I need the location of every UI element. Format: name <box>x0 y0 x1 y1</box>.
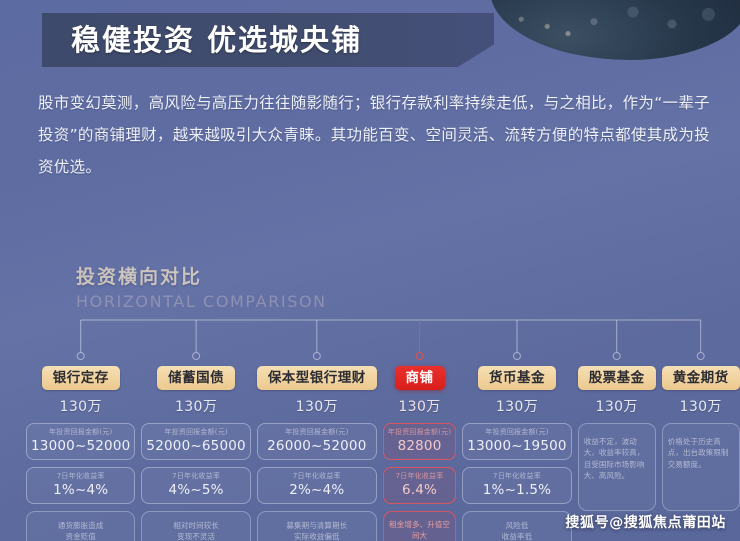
watermark: 搜狐号@搜狐焦点莆田站 <box>565 512 726 532</box>
column-label-2[interactable]: 储蓄国债 <box>157 366 235 390</box>
return-value: 13000~52000 <box>31 438 130 454</box>
rate-value: 2%~4% <box>262 482 372 498</box>
column-amount: 130万 <box>60 396 102 416</box>
return-caption: 年投资回报金额(元) <box>388 428 451 437</box>
return-box: 年投资回报金额(元)26000~52000 <box>257 423 377 460</box>
rate-box: 7日年化收益率2%~4% <box>257 467 377 504</box>
column-note: 租金增多、升值空间大抗风险、高抗通胀能力 <box>383 511 456 541</box>
rate-box: 7日年化收益率4%~5% <box>141 467 250 504</box>
page-title: 稳健投资 优选城央铺 <box>42 26 362 55</box>
column-amount: 130万 <box>296 396 338 416</box>
column-note: 收益不定，波动大，收益率较高，且受国际市场影响大、高风险。 <box>578 423 656 511</box>
comparison-column: 保本型银行理财130万年投资回报金额(元)26000~520007日年化收益率2… <box>257 366 377 541</box>
column-note-text: 相对时间较长变现不灵活 <box>173 520 219 541</box>
column-note: 相对时间较长变现不灵活 <box>141 511 250 541</box>
rate-value: 4%~5% <box>146 482 245 498</box>
rate-box: 7日年化收益率6.4% <box>383 467 456 504</box>
column-amount: 130万 <box>398 396 440 416</box>
comparison-column: 股票基金130万收益不定，波动大，收益率较高，且受国际市场影响大、高风险。 <box>578 366 656 511</box>
column-note-text: 收益不定，波动大，收益率较高，且受国际市场影响大、高风险。 <box>584 436 650 481</box>
column-label-7[interactable]: 黄金期货 <box>662 366 740 390</box>
column-label-6[interactable]: 股票基金 <box>578 366 656 390</box>
section-title-cn: 投资横向对比 <box>76 262 327 289</box>
column-label-5[interactable]: 货币基金 <box>478 366 556 390</box>
column-note-text: 风险低收益率低 <box>502 520 532 541</box>
rate-value: 1%~4% <box>31 482 130 498</box>
intro-paragraph: 股市变幻莫测，高风险与高压力往往随影随行；银行存款利率持续走低，与之相比，作为“… <box>38 88 710 183</box>
rate-box: 7日年化收益率1%~1.5% <box>462 467 571 504</box>
column-amount: 130万 <box>680 396 722 416</box>
column-label-1[interactable]: 银行定存 <box>42 366 120 390</box>
return-value: 13000~19500 <box>467 438 566 454</box>
column-note: 价格处于历史高点，出台政策限制交易额度。 <box>662 423 740 511</box>
comparison-column: 储蓄国债130万年投资回报金额(元)52000~650007日年化收益率4%~5… <box>141 366 250 541</box>
return-box: 年投资回报金额(元)52000~65000 <box>141 423 250 460</box>
column-label-4[interactable]: 商铺 <box>395 366 445 390</box>
return-box: 年投资回报金额(元)13000~52000 <box>26 423 135 460</box>
rate-value: 1%~1.5% <box>467 482 566 498</box>
column-amount: 130万 <box>175 396 217 416</box>
return-box: 年投资回报金额(元)82800 <box>383 423 456 460</box>
column-note-text: 募集期与清算期长实际收益偏低 <box>286 520 347 541</box>
column-note: 募集期与清算期长实际收益偏低 <box>257 511 377 541</box>
column-note-text: 价格处于历史高点，出台政策限制交易额度。 <box>668 436 734 470</box>
return-box: 年投资回报金额(元)13000~19500 <box>462 423 571 460</box>
return-value: 26000~52000 <box>262 438 372 454</box>
rate-caption: 7日年化收益率 <box>146 472 245 481</box>
column-note: 风险低收益率低 <box>462 511 571 541</box>
comparison-column: 货币基金130万年投资回报金额(元)13000~195007日年化收益率1%~1… <box>462 366 571 541</box>
rate-caption: 7日年化收益率 <box>388 472 451 481</box>
return-caption: 年投资回报金额(元) <box>262 428 372 437</box>
return-caption: 年投资回报金额(元) <box>31 428 130 437</box>
column-note-text: 租金增多、升值空间大抗风险、高抗通胀能力 <box>389 519 450 541</box>
return-value: 82800 <box>388 438 451 454</box>
return-caption: 年投资回报金额(元) <box>146 428 245 437</box>
column-amount: 130万 <box>596 396 638 416</box>
comparison-column: 银行定存130万年投资回报金额(元)13000~520007日年化收益率1%~4… <box>26 366 135 541</box>
column-label-3[interactable]: 保本型银行理财 <box>257 366 377 390</box>
column-note: 通货膨胀造成资金贬值 <box>26 511 135 541</box>
rate-caption: 7日年化收益率 <box>262 472 372 481</box>
rate-value: 6.4% <box>388 482 451 498</box>
comparison-column: 商铺130万年投资回报金额(元)828007日年化收益率6.4%租金增多、升值空… <box>383 366 456 541</box>
return-value: 52000~65000 <box>146 438 245 454</box>
headline-banner: 稳健投资 优选城央铺 <box>42 13 494 67</box>
rate-box: 7日年化收益率1%~4% <box>26 467 135 504</box>
connector-rails <box>0 300 740 370</box>
column-note-text: 通货膨胀造成资金贬值 <box>58 520 104 541</box>
rate-caption: 7日年化收益率 <box>31 472 130 481</box>
comparison-column: 黄金期货130万价格处于历史高点，出台政策限制交易额度。 <box>662 366 740 511</box>
aerial-photo-decoration <box>490 0 740 60</box>
column-amount: 130万 <box>496 396 538 416</box>
rate-caption: 7日年化收益率 <box>467 472 566 481</box>
return-caption: 年投资回报金额(元) <box>467 428 566 437</box>
